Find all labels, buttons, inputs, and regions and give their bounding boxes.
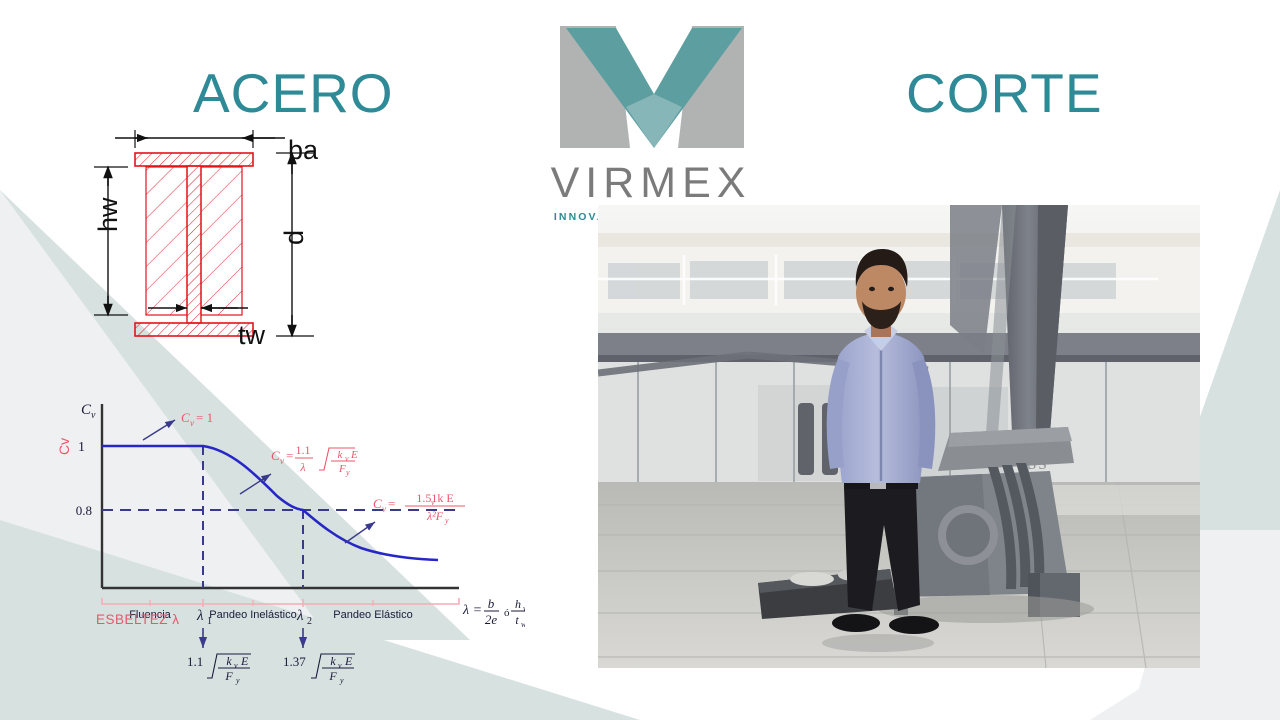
svg-text:λ²F: λ²F	[426, 509, 444, 523]
chart-ytick-08: 0.8	[76, 503, 92, 518]
svg-text:1.37: 1.37	[283, 654, 306, 669]
svg-text:b: b	[488, 596, 495, 611]
svg-text:C: C	[271, 448, 280, 463]
chart-region-elastico: Pandeo Elástico	[333, 609, 413, 621]
svg-text:y: y	[444, 516, 449, 525]
svg-text:k: k	[330, 654, 336, 668]
svg-text:v: v	[280, 456, 284, 466]
svg-text:k: k	[226, 654, 232, 668]
svg-text:v: v	[234, 661, 238, 670]
svg-text:1.51k E: 1.51k E	[416, 491, 453, 505]
beam-label-hw: hw	[95, 197, 122, 232]
svg-text:v: v	[91, 410, 96, 421]
chart-annotation-inelastic: C v = 1.1 λ k v E F y	[271, 443, 358, 477]
svg-text:w: w	[521, 620, 525, 629]
chart-xlabel-esbeltez: ESBELTEZ λ	[96, 612, 180, 627]
svg-text:v: v	[382, 504, 386, 514]
svg-text:C: C	[373, 496, 382, 511]
page-title-left: ACERO	[193, 66, 394, 121]
page-title-right: CORTE	[906, 66, 1103, 121]
svg-text:t: t	[515, 613, 519, 627]
svg-text:v: v	[190, 418, 194, 428]
svg-text:2e: 2e	[485, 612, 498, 627]
slide-canvas: ACERO CORTE VIRMEX INNOV	[0, 0, 1280, 720]
svg-text:F: F	[224, 669, 233, 683]
svg-text:y: y	[235, 676, 240, 685]
svg-text:C: C	[181, 410, 190, 425]
svg-text:=: =	[286, 448, 293, 463]
svg-text:E: E	[350, 449, 358, 461]
cv-vs-slenderness-chart: 1 0.8 C v C v = 1 C v	[55, 396, 525, 696]
beam-label-ba: ba	[288, 137, 318, 164]
svg-text:2: 2	[307, 616, 312, 627]
chart-xmarker-lambda2: λ 2	[296, 608, 312, 627]
svg-text:1.1: 1.1	[187, 654, 203, 669]
svg-text:E: E	[240, 654, 249, 668]
svg-text:λ =: λ =	[462, 603, 482, 618]
svg-text:v: v	[338, 661, 342, 670]
svg-text:v: v	[345, 454, 349, 463]
chart-lambda-definition: λ = b 2e ó h w t w	[462, 596, 525, 629]
svg-text:E: E	[344, 654, 353, 668]
svg-text:F: F	[338, 463, 346, 475]
chart-annotation-plateau: C v = 1	[181, 410, 213, 428]
engineer-at-steel-column-photo: SS	[598, 205, 1200, 668]
virmex-wordmark: VIRMEX	[520, 162, 782, 205]
svg-text:λ: λ	[296, 608, 304, 624]
svg-text:F: F	[328, 669, 337, 683]
svg-text:y: y	[339, 676, 344, 685]
svg-text:k: k	[338, 449, 344, 461]
svg-text:λ: λ	[196, 608, 204, 624]
virmex-logo: VIRMEX INNOVACIÓN ESTRUCTURAL	[520, 22, 782, 217]
svg-text:y: y	[345, 468, 350, 477]
chart-ylabel-cv: Cv	[56, 438, 72, 455]
svg-text:w: w	[523, 604, 525, 613]
svg-text:h: h	[515, 597, 521, 611]
svg-text:= 1: = 1	[196, 410, 213, 425]
svg-text:ó: ó	[504, 607, 510, 619]
svg-text:1.1: 1.1	[296, 443, 311, 457]
virmex-m-mark-icon	[554, 22, 754, 152]
svg-text:λ: λ	[299, 460, 305, 474]
chart-region-inelastico: Pandeo Inelástico	[209, 609, 296, 621]
chart-lambda1-value: 1.1 k v E F y	[187, 654, 251, 685]
svg-text:=: =	[388, 496, 395, 511]
chart-lambda2-value: 1.37 k v E F y	[283, 654, 355, 685]
chart-ytick-1: 1	[78, 440, 85, 455]
beam-label-tw: tw	[238, 322, 265, 349]
chart-annotation-elastic: C v = 1.51k E v λ²F y	[373, 491, 465, 525]
beam-label-d: d	[281, 230, 308, 245]
